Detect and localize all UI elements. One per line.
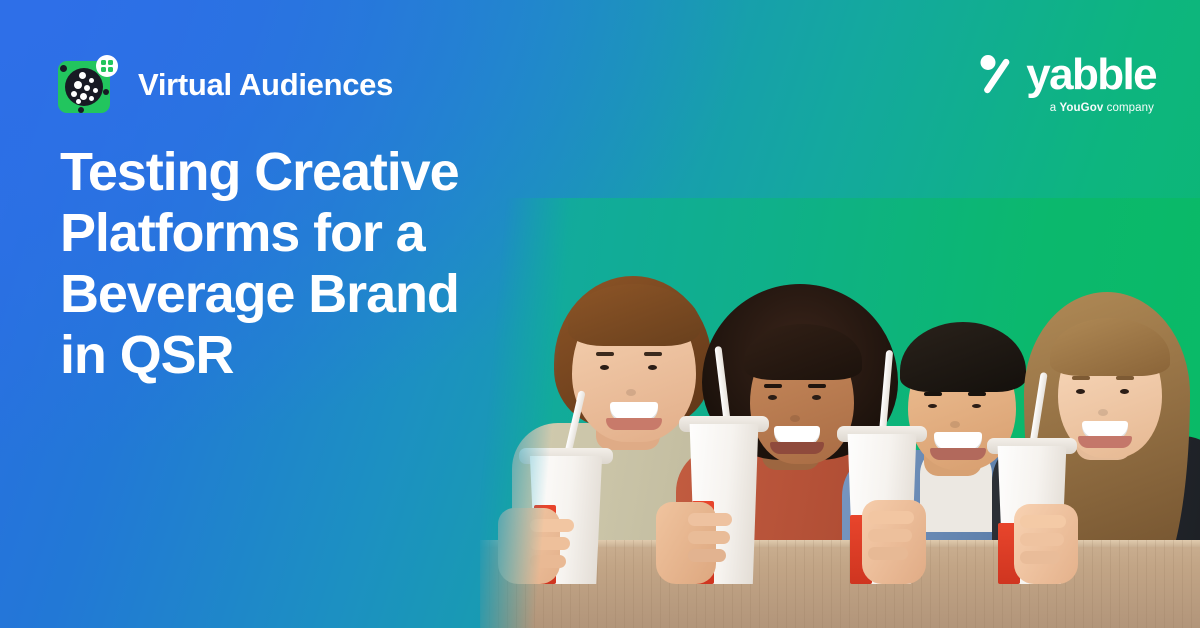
person-1-brow-right bbox=[644, 352, 662, 356]
person-4-eye-left bbox=[1076, 389, 1085, 394]
tagline-prefix: a bbox=[1050, 102, 1060, 114]
person-1-eye-left bbox=[600, 365, 609, 370]
person-2-eye-right bbox=[812, 395, 821, 400]
person-4-brow-right bbox=[1116, 376, 1134, 380]
person-4-brow-left bbox=[1072, 376, 1090, 380]
person-2-brow-left bbox=[764, 384, 782, 388]
drink-cup-3 bbox=[842, 434, 922, 584]
person-3-lip bbox=[930, 448, 986, 460]
cup-1-finger-a bbox=[530, 519, 574, 532]
yabble-logo: yabble a YouGov company bbox=[974, 52, 1156, 114]
promo-banner: Virtual Audiences Testing Creative Platf… bbox=[0, 0, 1200, 628]
logo-satellite-dot-3 bbox=[78, 107, 84, 113]
percent-slash-icon bbox=[974, 52, 1020, 98]
person-4-nose bbox=[1098, 409, 1108, 416]
cup-3-finger-a bbox=[868, 511, 914, 524]
cup-2-finger-a bbox=[688, 513, 732, 526]
product-name: Virtual Audiences bbox=[138, 69, 393, 100]
yabble-wordmark: yabble bbox=[1026, 53, 1156, 97]
virtual-audiences-logo-icon bbox=[58, 55, 116, 113]
logo-satellite-dot-1 bbox=[60, 65, 67, 72]
person-1-lip bbox=[606, 418, 662, 430]
yabble-tagline: a YouGov company bbox=[1050, 102, 1154, 114]
logo-satellite-dot-2 bbox=[103, 89, 109, 95]
person-3-eye-left bbox=[928, 404, 937, 408]
person-1-brow-left bbox=[596, 352, 614, 356]
drink-cup-4 bbox=[992, 446, 1072, 584]
person-2-nose bbox=[790, 415, 800, 422]
drink-cup-1 bbox=[524, 456, 608, 584]
cup-4-finger-b bbox=[1020, 533, 1064, 546]
brand-lockup: Virtual Audiences bbox=[58, 55, 393, 113]
person-2-brow-right bbox=[808, 384, 826, 388]
badge-cell-1 bbox=[101, 60, 106, 65]
person-4-lip bbox=[1078, 436, 1132, 448]
grid-badge-icon bbox=[96, 55, 118, 77]
cup-2-finger-c bbox=[688, 549, 726, 562]
cup-4-finger-a bbox=[1020, 515, 1066, 528]
badge-cell-3 bbox=[101, 67, 106, 72]
person-3-brow-left bbox=[924, 392, 942, 396]
page-title: Testing Creative Platforms for a Beverag… bbox=[60, 142, 580, 386]
person-4-eye-right bbox=[1120, 389, 1129, 394]
cup-3-finger-c bbox=[868, 547, 908, 560]
person-1-eye-right bbox=[648, 365, 657, 370]
drink-cup-2 bbox=[684, 424, 764, 584]
person-3-brow-right bbox=[968, 392, 986, 396]
tagline-brand: YouGov bbox=[1059, 102, 1103, 114]
yabble-logo-row: yabble bbox=[974, 52, 1156, 98]
person-3-nose bbox=[950, 421, 960, 428]
person-1-nose bbox=[626, 389, 636, 396]
logo-dot-cluster bbox=[65, 68, 103, 106]
hero-photo bbox=[480, 198, 1200, 628]
badge-cell-2 bbox=[108, 60, 113, 65]
person-2-lip bbox=[770, 442, 824, 454]
person-3-eye-right bbox=[972, 404, 981, 408]
cup-4-finger-c bbox=[1020, 551, 1060, 564]
tagline-suffix: company bbox=[1103, 102, 1154, 114]
cup-1-finger-c bbox=[530, 555, 566, 568]
badge-cell-4 bbox=[108, 67, 113, 72]
cup-1-finger-b bbox=[530, 537, 570, 550]
person-2-eye-left bbox=[768, 395, 777, 400]
cup-2-finger-b bbox=[688, 531, 730, 544]
cup-3-finger-b bbox=[868, 529, 912, 542]
